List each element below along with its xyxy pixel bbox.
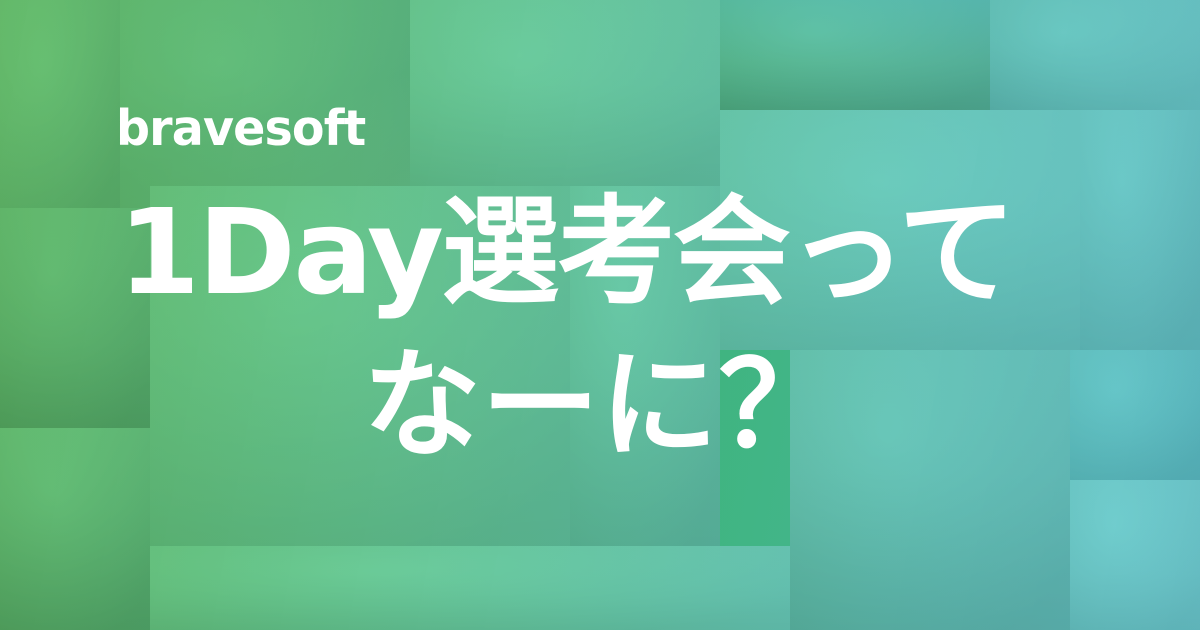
headline-line-2: なーに？ bbox=[0, 329, 1200, 482]
banner-content: bravesoft 1Day選考会って なーに？ bbox=[0, 0, 1200, 630]
ogp-banner: bravesoft 1Day選考会って なーに？ bbox=[0, 0, 1200, 630]
bravesoft-logo: bravesoft bbox=[116, 104, 365, 153]
headline-line-1: 1Day選考会って bbox=[0, 176, 1200, 329]
page-title: 1Day選考会って なーに？ bbox=[0, 176, 1200, 483]
